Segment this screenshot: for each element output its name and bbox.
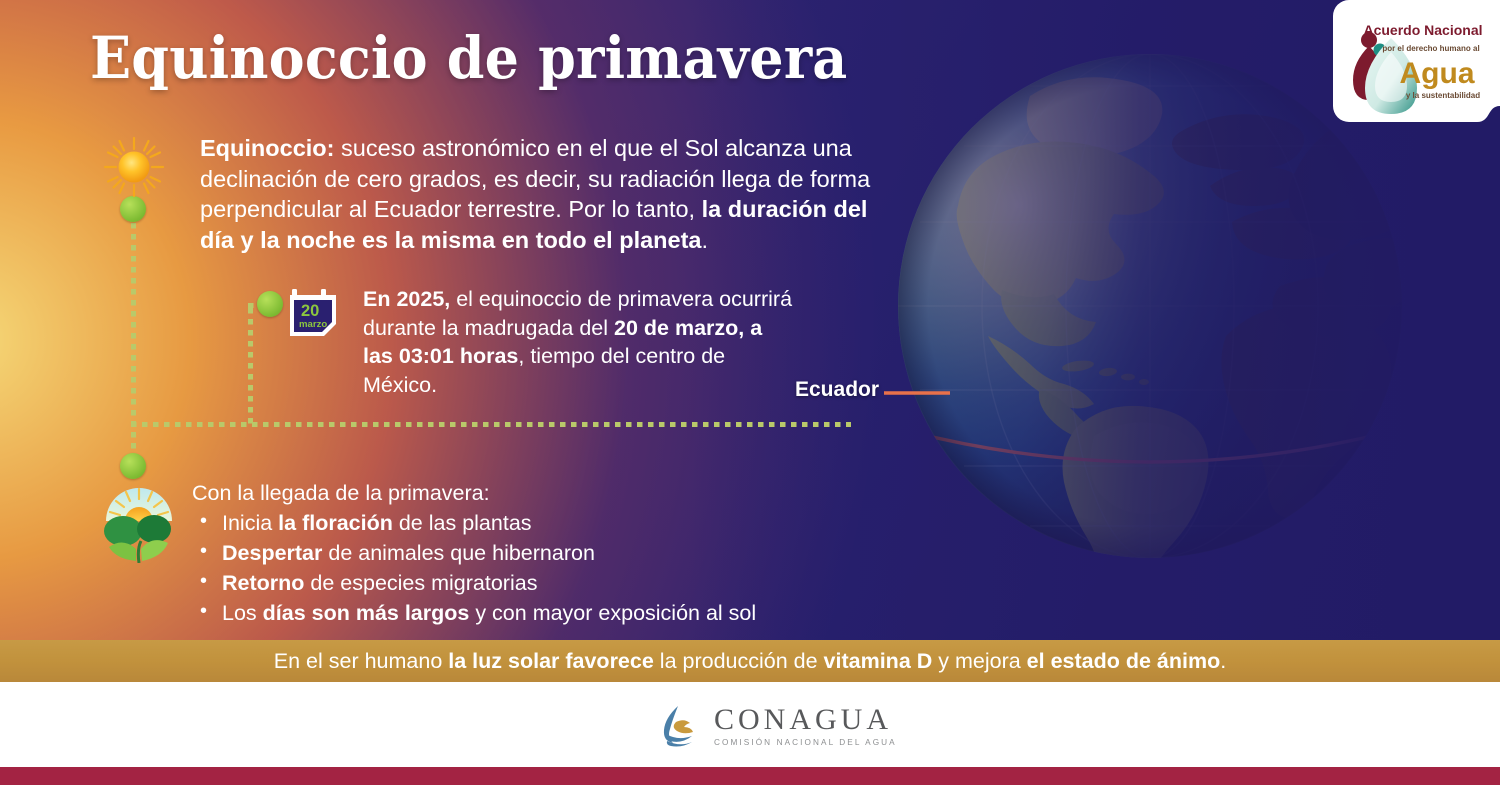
main-panel: Ecuador Equinoccio de primavera: [0, 0, 1500, 640]
banner-period: .: [1220, 649, 1226, 673]
item-bold: Retorno: [222, 571, 304, 595]
infographic-root: Ecuador Equinoccio de primavera: [0, 0, 1500, 785]
paragraph-fecha: En 2025, el equinoccio de primavera ocur…: [363, 285, 793, 399]
p2-lead: En 2025,: [363, 287, 450, 311]
list-item: Retorno de especies migratorias: [192, 568, 852, 598]
badge-svg: Acuerdo Nacional por el derecho humano a…: [1325, 0, 1500, 128]
p1-period: .: [702, 227, 709, 253]
calendar-month: marzo: [299, 319, 327, 330]
item-post: y con mayor exposición al sol: [469, 601, 756, 625]
item-bold: la floración: [278, 511, 393, 535]
badge-line1: Acuerdo Nacional: [1363, 22, 1482, 38]
badge-line3: Agua: [1400, 57, 1475, 90]
banner-bold3: el estado de ánimo: [1027, 649, 1221, 673]
item-pre: Inicia: [222, 511, 278, 535]
badge-line4: y la sustentabilidad: [1406, 91, 1480, 100]
list-item: Los días son más largos y con mayor expo…: [192, 598, 852, 628]
item-pre: Los: [222, 601, 263, 625]
equator-label: Ecuador: [795, 378, 879, 402]
node-dot-spring: [120, 453, 146, 479]
banner-text: En el ser humano la luz solar favorece l…: [274, 649, 1226, 674]
connector-horizontal: [131, 422, 851, 427]
calendar-icon: 20 marzo: [288, 288, 340, 338]
item-bold: Despertar: [222, 541, 322, 565]
bottom-crimson-bar: [0, 767, 1500, 785]
banner-bold1: la luz solar favorece: [448, 649, 654, 673]
conagua-eagle-water-icon: [656, 703, 702, 749]
banner-mid: la producción de: [654, 649, 824, 673]
node-dot-calendar: [257, 291, 283, 317]
list-item: Despertar de animales que hibernaron: [192, 538, 852, 568]
item-bold: días son más largos: [263, 601, 470, 625]
spring-list-block: Con la llegada de la primavera: Inicia l…: [192, 478, 852, 628]
paragraph-equinoccio: Equinoccio: suceso astronómico en el que…: [200, 133, 880, 255]
conagua-logo-text: CONAGUA COMISIÓN NACIONAL DEL AGUA: [714, 705, 897, 747]
spring-list: Inicia la floración de las plantas Despe…: [192, 508, 852, 628]
p1-lead: Equinoccio:: [200, 135, 334, 161]
bottom-banner: En el ser humano la luz solar favorece l…: [0, 640, 1500, 682]
connector-vertical-main: [131, 212, 136, 468]
page-title: Equinoccio de primavera: [90, 24, 847, 92]
list-item: Inicia la floración de las plantas: [192, 508, 852, 538]
item-post: de especies migratorias: [304, 571, 537, 595]
banner-mid2: y mejora: [932, 649, 1026, 673]
equator-leader-line: [884, 386, 954, 400]
conagua-name: CONAGUA: [714, 705, 897, 735]
badge-line2: por el derecho humano al: [1382, 44, 1479, 53]
calendar-day: 20: [301, 302, 319, 320]
item-post: de animales que hibernaron: [322, 541, 595, 565]
connector-vertical-branch: [248, 308, 253, 426]
conagua-subtitle: COMISIÓN NACIONAL DEL AGUA: [714, 739, 897, 747]
banner-pre: En el ser humano: [274, 649, 449, 673]
sun-icon: [103, 136, 165, 198]
spring-plants-icon: [96, 477, 182, 563]
item-post: de las plantas: [393, 511, 532, 535]
conagua-logo: CONAGUA COMISIÓN NACIONAL DEL AGUA: [656, 703, 897, 749]
banner-bold2: vitamina D: [824, 649, 933, 673]
acuerdo-nacional-badge: Acuerdo Nacional por el derecho humano a…: [1325, 0, 1500, 128]
spring-list-intro: Con la llegada de la primavera:: [192, 478, 852, 508]
node-dot-sun: [120, 196, 146, 222]
